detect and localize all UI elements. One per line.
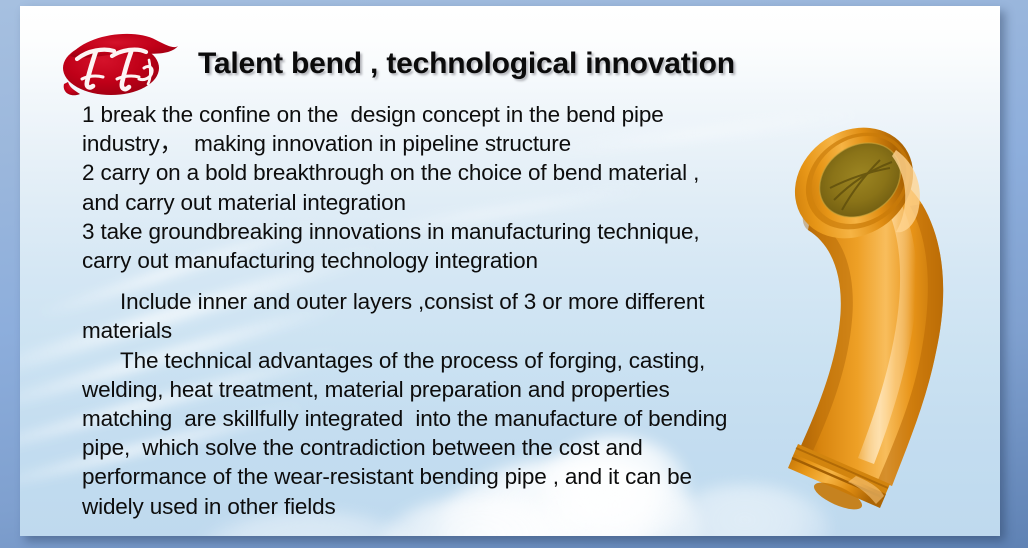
body-paragraph: 3 take groundbreaking innovations in man… — [82, 217, 742, 275]
tf-monogram-logo-icon — [56, 32, 180, 98]
body-paragraph-text: Include inner and outer layers ,consist … — [82, 289, 710, 343]
body-paragraph-indented: Include inner and outer layers ,consist … — [82, 287, 742, 345]
slide-header: Talent bend , technological innovation — [20, 6, 1000, 102]
page-title: Talent bend , technological innovation — [198, 47, 735, 81]
slide-frame: Talent bend , technological innovation 1… — [0, 0, 1028, 548]
body-text-block: 1 break the confine on the design concep… — [82, 100, 742, 521]
body-paragraph-text: The technical advantages of the process … — [82, 348, 733, 519]
body-paragraph: 1 break the confine on the design concep… — [82, 100, 742, 158]
orange-bend-pipe-illustration — [738, 92, 988, 512]
body-paragraph: 2 carry on a bold breakthrough on the ch… — [82, 158, 742, 216]
slide-canvas: Talent bend , technological innovation 1… — [20, 6, 1000, 536]
body-paragraph-indented: The technical advantages of the process … — [82, 346, 742, 521]
